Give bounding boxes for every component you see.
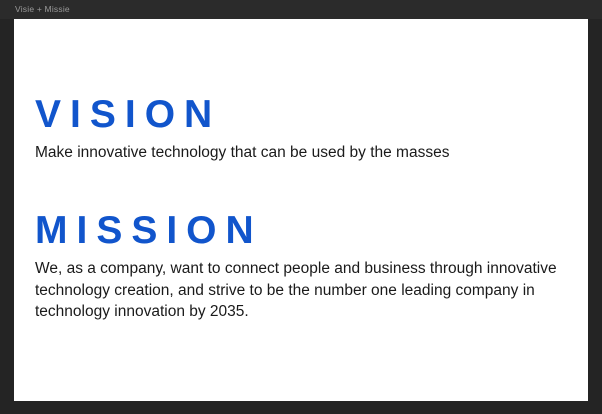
- presentation-editor-window: Visie + Missie VISION Make innovative te…: [0, 0, 602, 414]
- window-titlebar: Visie + Missie: [0, 0, 602, 19]
- document-title: Visie + Missie: [15, 0, 70, 19]
- vision-heading[interactable]: VISION: [35, 95, 581, 136]
- slide-content: VISION Make innovative technology that c…: [35, 95, 581, 323]
- mission-section: MISSION We, as a company, want to connec…: [35, 211, 581, 322]
- vision-section: VISION Make innovative technology that c…: [35, 95, 581, 163]
- mission-body-text[interactable]: We, as a company, want to connect people…: [35, 258, 580, 323]
- mission-heading[interactable]: MISSION: [35, 211, 581, 252]
- slide-canvas[interactable]: VISION Make innovative technology that c…: [14, 19, 588, 401]
- vision-body-text[interactable]: Make innovative technology that can be u…: [35, 142, 580, 164]
